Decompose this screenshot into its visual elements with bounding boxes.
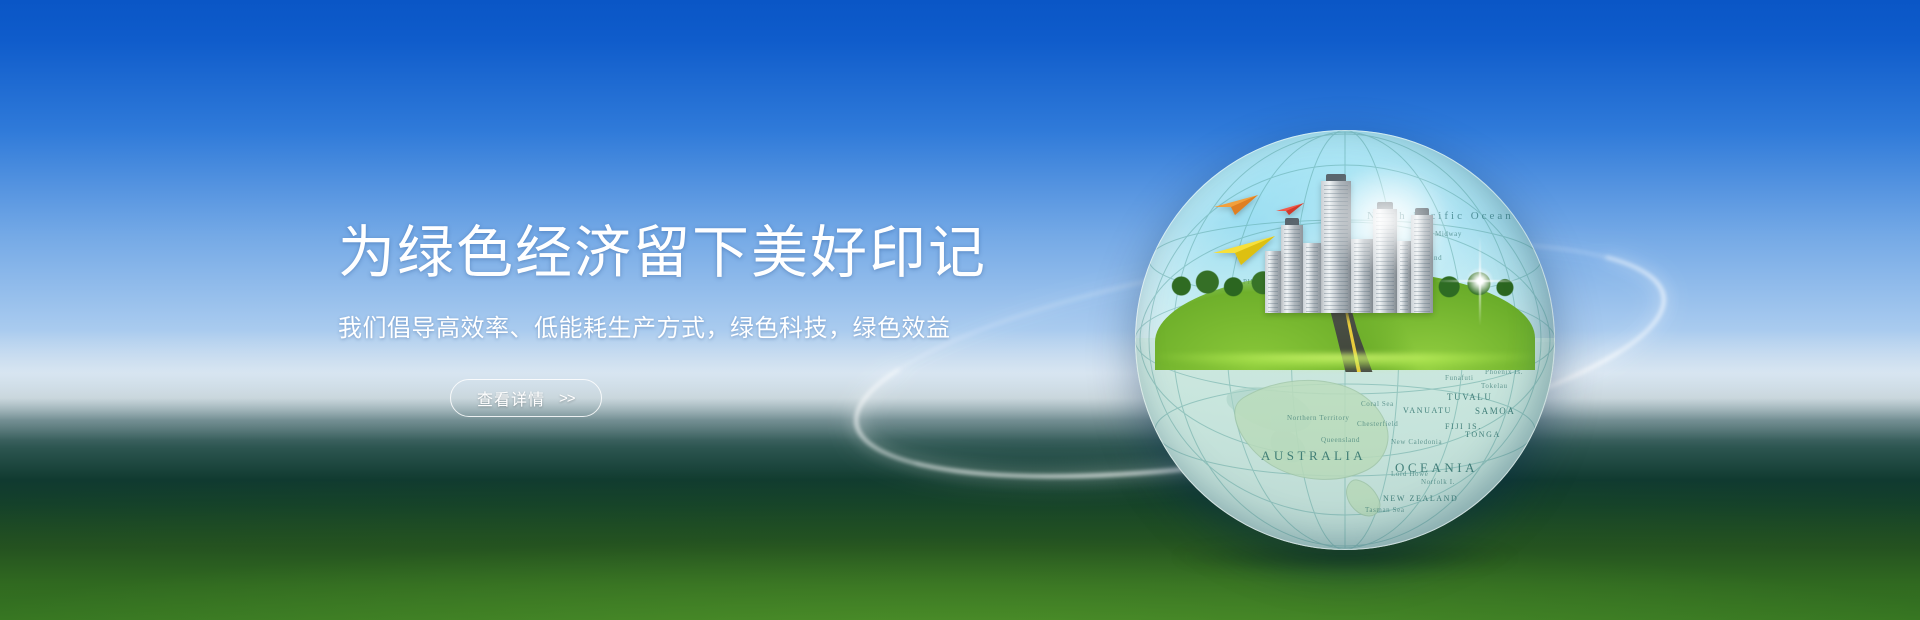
page-title: 为绿色经济留下美好印记 — [338, 222, 998, 286]
paper-plane-yellow-icon — [1211, 234, 1277, 266]
building-mid — [1303, 243, 1321, 313]
page-subtitle: 我们倡导高效率、低能耗生产方式，绿色科技，绿色效益 — [338, 312, 998, 346]
building-center-block — [1351, 239, 1373, 313]
hill-edge-glow — [1157, 354, 1533, 370]
city-skyline — [1263, 178, 1443, 313]
hero-banner: North Pacific Ocean Midway Wake Island P… — [0, 0, 1920, 620]
building-tower — [1321, 181, 1351, 313]
building-right-mid — [1397, 241, 1411, 313]
chevron-right-icon: >> — [559, 390, 575, 407]
view-details-button[interactable]: 查看详情 >> — [450, 379, 602, 417]
cta-container: 查看详情 >> — [338, 379, 998, 417]
building-tall-left — [1281, 225, 1303, 313]
globe-sphere: North Pacific Ocean Midway Wake Island P… — [1135, 130, 1555, 550]
banner-copy: 为绿色经济留下美好印记 我们倡导高效率、低能耗生产方式，绿色科技，绿色效益 查看… — [338, 222, 998, 417]
globe-illustration: North Pacific Ocean Midway Wake Island P… — [1000, 110, 1700, 590]
building-right-tall — [1373, 209, 1397, 313]
building-right-tower — [1411, 215, 1433, 313]
paper-plane-red-icon — [1275, 202, 1305, 216]
view-details-label: 查看详情 — [477, 386, 545, 410]
paper-plane-orange-icon — [1213, 194, 1259, 216]
